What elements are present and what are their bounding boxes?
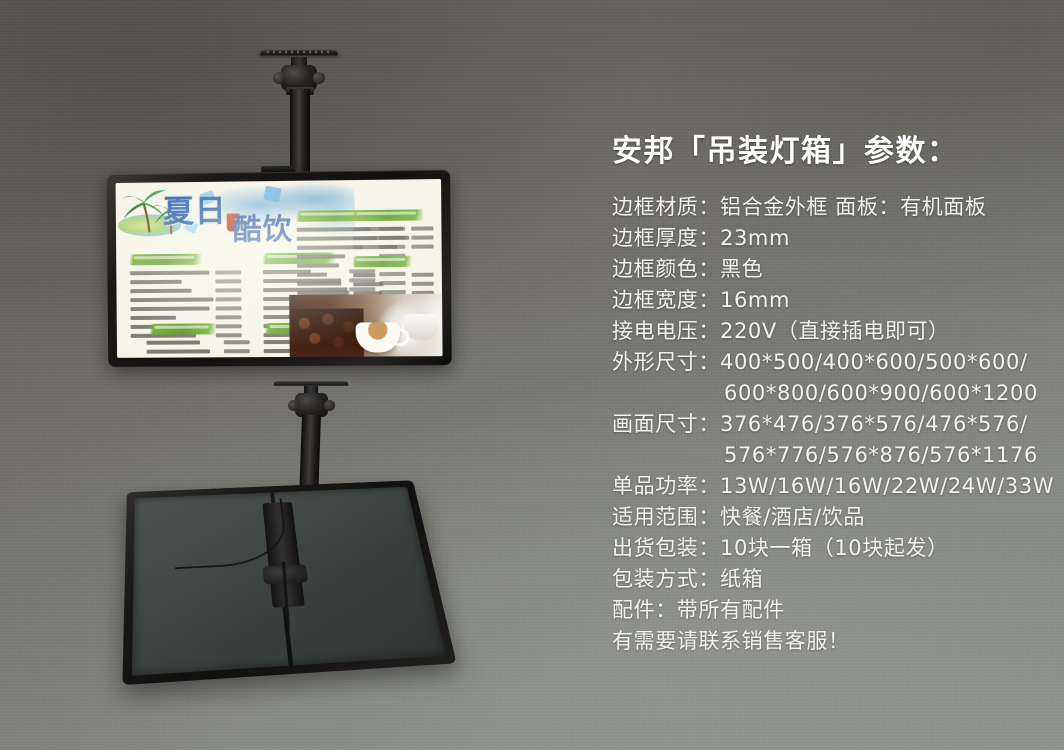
menu-title-line2: 酷饮 bbox=[233, 206, 293, 249]
menu-item-row bbox=[353, 272, 440, 280]
coffee-beans-image bbox=[289, 308, 364, 357]
menu-section-header-4 bbox=[353, 209, 424, 221]
swivel-knob-left bbox=[273, 72, 285, 84]
light-box-panel: 夏日 酷饮 bbox=[116, 179, 443, 358]
spec-line: 适用范围：快餐/酒店/饮品 bbox=[612, 502, 1042, 533]
spec-line-continuation: 576*776/576*876/576*1176 bbox=[612, 440, 1042, 471]
spec-title: 安邦「吊装灯箱」参数： bbox=[612, 126, 1042, 170]
spec-line: 边框宽度：16mm bbox=[612, 285, 1042, 316]
menu-item-row bbox=[130, 296, 245, 304]
light-box-lit: 夏日 酷饮 bbox=[107, 170, 452, 367]
light-box-unlit bbox=[122, 480, 456, 685]
coffee-cup-front bbox=[356, 322, 401, 352]
menu-item-row bbox=[353, 234, 440, 242]
swivel-knob-right bbox=[313, 72, 325, 84]
ceiling-plate-holes bbox=[267, 51, 332, 53]
menu-item-row bbox=[353, 243, 440, 251]
menu-item-row bbox=[147, 357, 254, 358]
coffee-photo bbox=[289, 294, 442, 357]
menu-item-row bbox=[130, 269, 245, 277]
menu-item-row bbox=[130, 305, 245, 313]
spec-line: 外形尺寸：400*500/400*600/500*600/ bbox=[612, 347, 1042, 378]
spec-line: 边框厚度：23mm bbox=[612, 223, 1042, 254]
light-box-2-frame bbox=[122, 480, 456, 685]
menu-item-row bbox=[130, 287, 245, 295]
spec-line: 单品功率：13W/16W/16W/22W/24W/33W bbox=[612, 471, 1042, 502]
spec-line-continuation: 600*800/600*900/600*1200 bbox=[612, 378, 1042, 409]
menu-section-header-8 bbox=[150, 323, 215, 334]
menu-section-header-1 bbox=[130, 254, 201, 266]
menu-section-rows-8 bbox=[147, 339, 255, 358]
spec-line: 出货包装：10块一箱（10块起发） bbox=[612, 533, 1042, 564]
ice-cube-b bbox=[263, 186, 281, 203]
swivel-knob-bottom-left bbox=[288, 400, 299, 411]
spec-panel: 安邦「吊装灯箱」参数： 边框材质：铝合金外框 面板：有机面板 边框厚度：23mm… bbox=[612, 126, 1042, 657]
product-photo-with-specs: 夏日 酷饮 bbox=[0, 0, 1064, 750]
light-box-frame: 夏日 酷饮 bbox=[107, 170, 452, 367]
menu-item-row bbox=[131, 314, 246, 322]
spec-list: 边框材质：铝合金外框 面板：有机面板 边框厚度：23mm 边框颜色：黑色 边框宽… bbox=[612, 192, 1042, 657]
menu-item-row bbox=[147, 339, 254, 347]
spec-line: 边框材质：铝合金外框 面板：有机面板 bbox=[612, 192, 1042, 223]
menu-item-row bbox=[147, 348, 254, 356]
spec-line: 配件：带所有配件 bbox=[612, 595, 1042, 626]
spec-line: 接电电压：220V（直接插电即可） bbox=[612, 316, 1042, 347]
menu-item-row bbox=[353, 225, 440, 233]
menu-title-line1: 夏日 bbox=[163, 186, 227, 232]
spec-line: 边框颜色：黑色 bbox=[612, 254, 1042, 285]
menu-item-row bbox=[130, 278, 245, 286]
spec-line: 包装方式：纸箱 bbox=[612, 564, 1042, 595]
menu-section-header-5 bbox=[353, 256, 411, 268]
spec-line: 画面尺寸：376*476/376*576/476*576/ bbox=[612, 409, 1042, 440]
menu-item-row bbox=[353, 281, 440, 289]
menu-artwork: 夏日 酷饮 bbox=[116, 179, 443, 358]
swivel-knob-bottom-right bbox=[324, 400, 335, 411]
spec-line: 有需要请联系销售客服！ bbox=[612, 626, 1042, 657]
menu-section-rows-4 bbox=[353, 225, 440, 253]
